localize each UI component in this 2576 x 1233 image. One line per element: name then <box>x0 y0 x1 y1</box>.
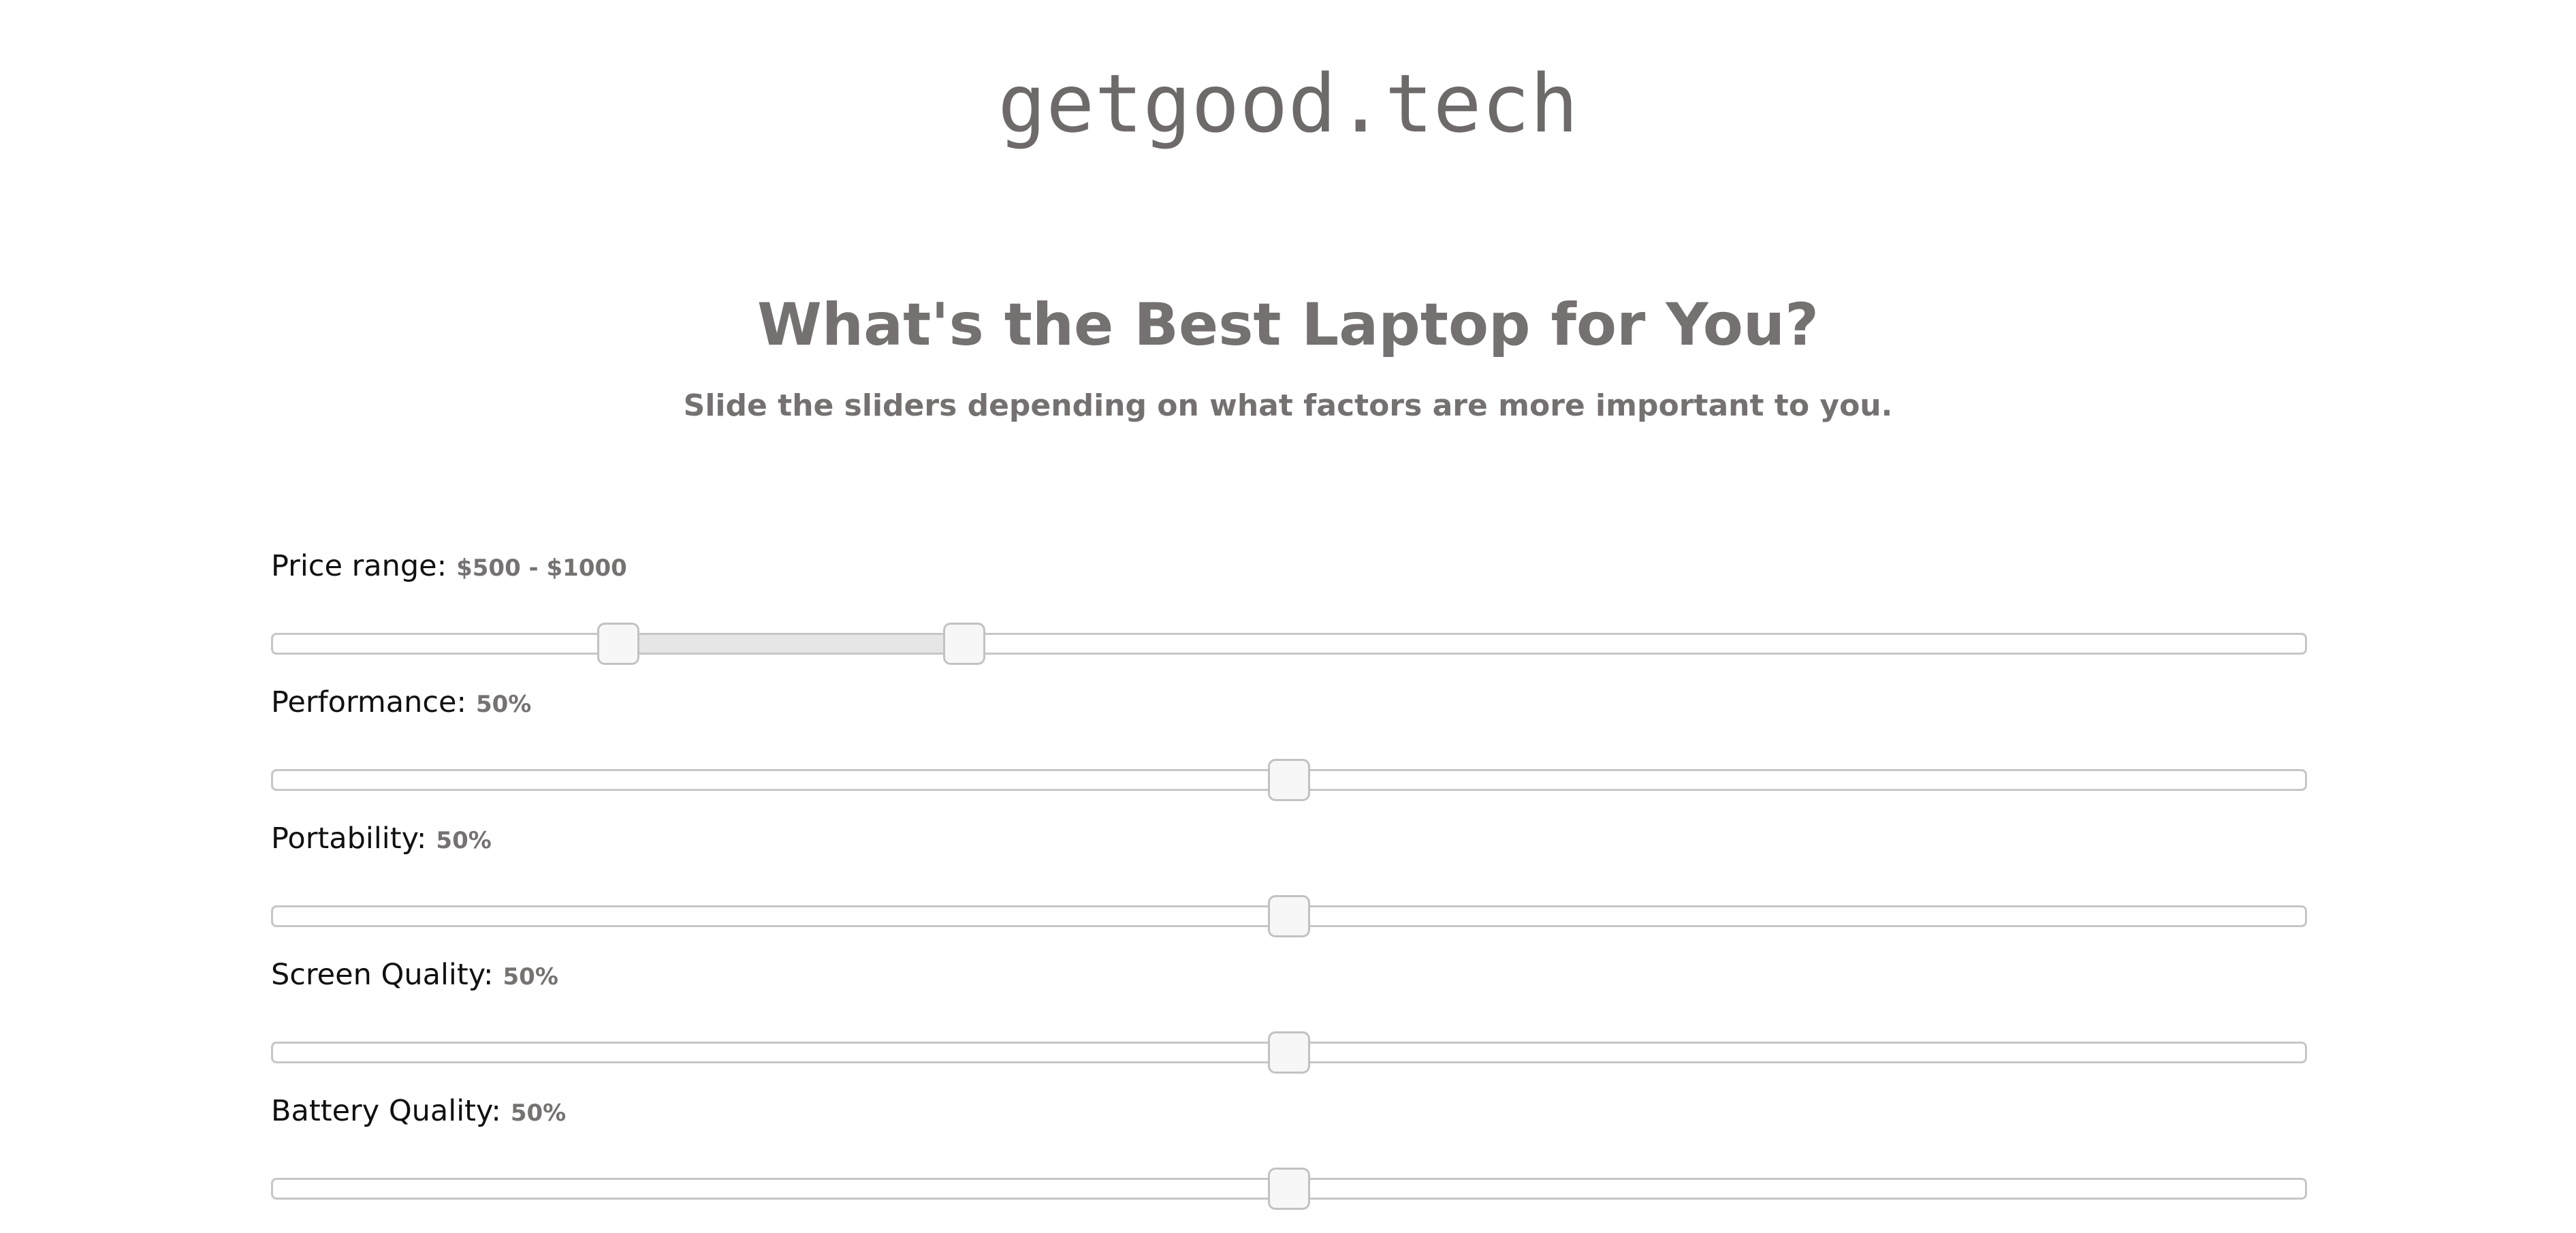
slider-row-screen-quality: Screen Quality:50% <box>271 961 2307 1097</box>
slider-track-portability[interactable] <box>271 905 2307 927</box>
slider-track-screen-quality[interactable] <box>271 1042 2307 1063</box>
slider-label-text: Performance: <box>271 685 466 719</box>
slider-label-portability: Portability:50% <box>271 824 492 854</box>
slider-value-text: 50% <box>436 827 491 854</box>
slider-handle-battery-quality[interactable] <box>1268 1168 1310 1210</box>
slider-value-text: 50% <box>503 963 558 990</box>
slider-handle-price-max[interactable] <box>943 623 985 665</box>
slider-label-performance: Performance:50% <box>271 688 531 717</box>
slider-label-price-range: Price range:$500 - $1000 <box>271 552 627 581</box>
site-title: getgood.tech <box>0 60 2576 149</box>
page-root: getgood.tech What's the Best Laptop for … <box>0 0 2576 1232</box>
slider-row-portability: Portability:50% <box>271 824 2307 961</box>
slider-label-text: Price range: <box>271 549 447 583</box>
slider-handle-price-min[interactable] <box>597 623 639 665</box>
slider-track-price-range[interactable] <box>271 633 2307 655</box>
slider-handle-performance[interactable] <box>1268 759 1310 801</box>
page-title: What's the Best Laptop for You? <box>0 293 2576 358</box>
slider-value-text: 50% <box>511 1099 566 1127</box>
page-subtitle: Slide the sliders depending on what fact… <box>0 388 2576 424</box>
slider-row-battery-quality: Battery Quality:50% <box>271 1097 2307 1233</box>
slider-value-text: $500 - $1000 <box>456 555 627 582</box>
slider-label-text: Portability: <box>271 822 426 856</box>
slider-handle-portability[interactable] <box>1268 895 1310 937</box>
slider-list: Price range:$500 - $1000 Performance:50%… <box>271 552 2307 1233</box>
slider-row-performance: Performance:50% <box>271 688 2307 824</box>
slider-label-text: Battery Quality: <box>271 1094 501 1128</box>
slider-value-text: 50% <box>476 691 531 718</box>
slider-label-screen-quality: Screen Quality:50% <box>271 961 558 990</box>
slider-track-performance[interactable] <box>271 769 2307 791</box>
slider-label-battery-quality: Battery Quality:50% <box>271 1097 566 1126</box>
slider-row-price-range: Price range:$500 - $1000 <box>271 552 2307 688</box>
slider-label-text: Screen Quality: <box>271 958 494 992</box>
slider-range-fill-price-range <box>618 635 964 653</box>
slider-track-battery-quality[interactable] <box>271 1178 2307 1200</box>
slider-handle-screen-quality[interactable] <box>1268 1031 1310 1074</box>
